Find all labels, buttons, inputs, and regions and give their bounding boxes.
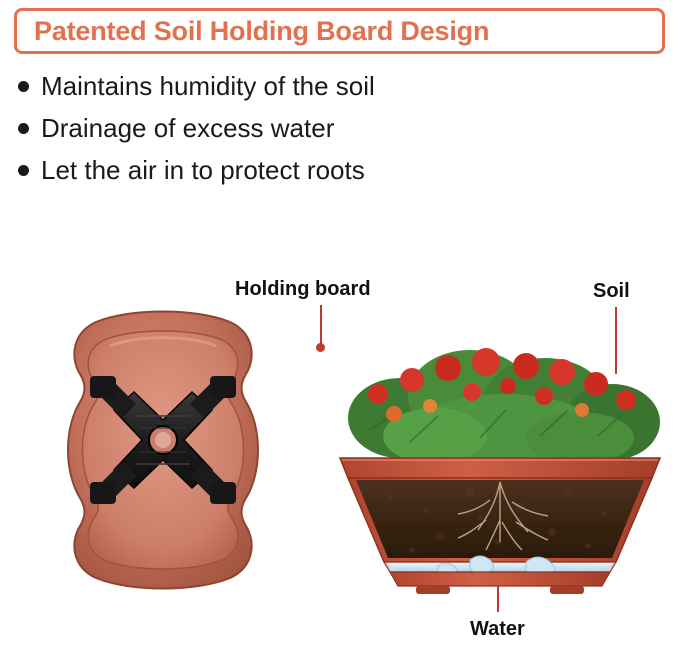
bullet-text: Drainage of excess water <box>41 112 334 144</box>
soil-holding-board-photo <box>18 300 308 600</box>
header-banner: Patented Soil Holding Board Design <box>14 8 665 54</box>
label-soil: Soil <box>593 280 630 303</box>
soil-holding-board-illustration <box>18 300 308 600</box>
product-diagram: Holding board Soil Water <box>0 225 679 652</box>
bullet-dot-icon <box>18 123 29 134</box>
bullet-dot-icon <box>18 81 29 92</box>
page-title: Patented Soil Holding Board Design <box>17 16 489 47</box>
list-item: Drainage of excess water <box>18 112 658 144</box>
planter-cross-section-photo <box>330 310 670 600</box>
list-item: Let the air in to protect roots <box>18 154 658 186</box>
label-holding-board: Holding board <box>235 278 371 301</box>
feature-bullet-list: Maintains humidity of the soil Drainage … <box>18 70 658 196</box>
pot-base <box>390 572 610 586</box>
bullet-dot-icon <box>18 165 29 176</box>
pot-foot-right <box>550 586 584 594</box>
list-item: Maintains humidity of the soil <box>18 70 658 102</box>
bullet-text: Maintains humidity of the soil <box>41 70 375 102</box>
water-layer <box>388 563 612 571</box>
leader-line-holding-board <box>320 305 322 347</box>
label-water: Water <box>470 618 525 641</box>
pot-foot-left <box>416 586 450 594</box>
planter-illustration <box>330 310 670 600</box>
bullet-text: Let the air in to protect roots <box>41 154 365 186</box>
marker-dot-holding-board <box>316 343 325 352</box>
